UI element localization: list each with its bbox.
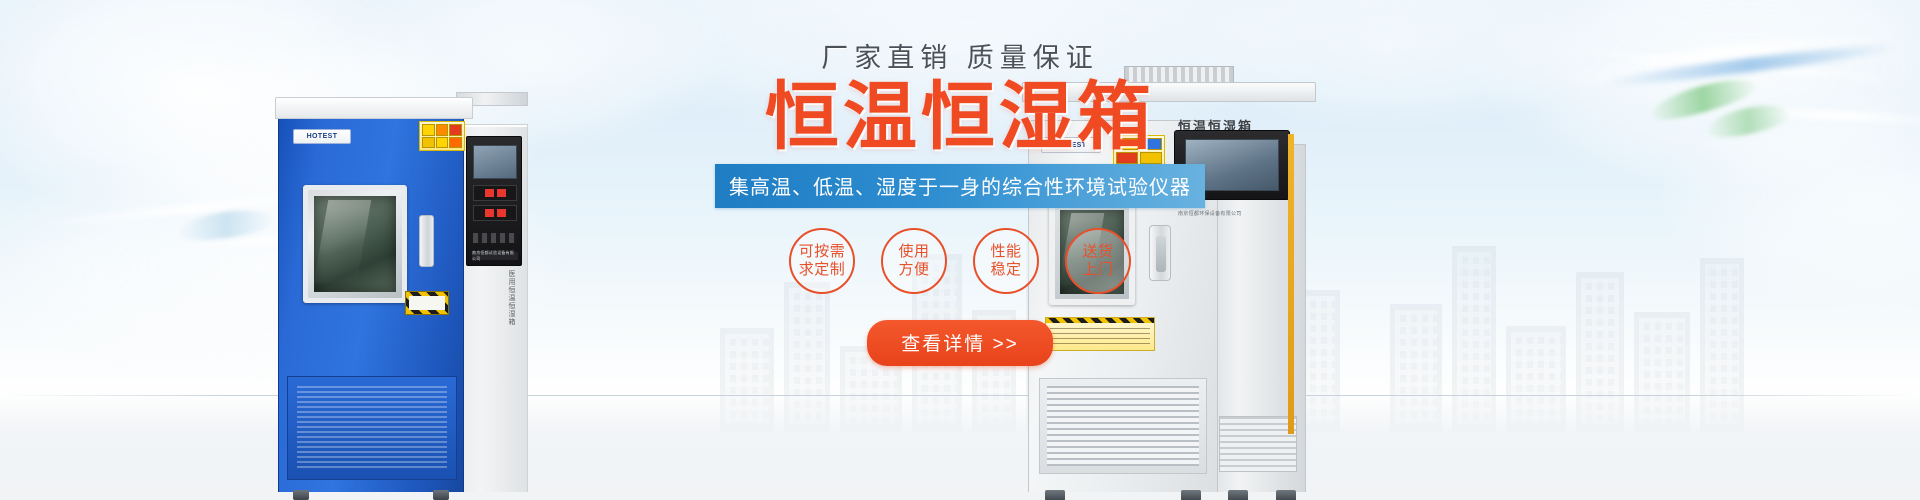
badge-line-1: 性能 — [990, 243, 1021, 261]
feature-badge-delivery[interactable]: 送货 上门 — [1065, 228, 1131, 294]
right-chamber-foot — [1181, 490, 1201, 500]
left-chamber-lower-door — [287, 376, 457, 480]
right-chamber-side-vent — [1219, 416, 1297, 472]
badge-line-1: 可按需 — [799, 243, 846, 261]
banner-subtitle-bar: 集高温、低温、湿度于一身的综合性环境试验仪器 — [715, 164, 1205, 208]
badge-line-2: 求定制 — [799, 261, 846, 279]
badge-line-2: 方便 — [898, 261, 929, 279]
feature-badge-custom[interactable]: 可按需 求定制 — [789, 228, 855, 294]
left-chamber-button-row — [473, 233, 517, 243]
badge-line-1: 送货 — [1082, 243, 1113, 261]
banner-content: 厂家直销 质量保证 恒温恒湿箱 集高温、低温、湿度于一身的综合性环境试验仪器 可… — [700, 44, 1220, 366]
left-chamber-front-label: 医用恒温恒湿箱 — [506, 270, 516, 326]
left-chamber-glass — [314, 196, 396, 292]
right-chamber-foot — [1045, 490, 1065, 500]
left-chamber-foot — [293, 490, 309, 500]
glass-glare — [313, 200, 370, 283]
right-chamber-front-grille — [1039, 378, 1207, 474]
left-chamber-touchscreen — [473, 145, 517, 179]
left-chamber-lower-vent — [297, 386, 447, 470]
left-chamber-viewport — [303, 185, 407, 303]
badge-line-2: 上门 — [1082, 261, 1113, 279]
promo-banner: HOTEST — [0, 0, 1920, 500]
badge-line-2: 稳定 — [990, 261, 1021, 279]
banner-tagline: 厂家直销 质量保证 — [700, 44, 1220, 74]
badge-line-1: 使用 — [898, 243, 929, 261]
left-chamber-top-cap — [275, 97, 473, 119]
feature-badge-list: 可按需 求定制 使用 方便 性能 稳定 送货 上门 — [700, 228, 1220, 294]
left-chamber-body: HOTEST — [278, 110, 464, 492]
right-chamber-foot — [1276, 490, 1296, 500]
right-chamber-accent-stripe — [1288, 134, 1294, 434]
left-chamber-digital-readout-2 — [473, 205, 517, 221]
feature-badge-easy-to-use[interactable]: 使用 方便 — [881, 228, 947, 294]
banner-headline: 恒温恒湿箱 — [700, 78, 1220, 156]
left-chamber-foot — [433, 490, 449, 500]
view-details-button[interactable]: 查看详情 >> — [867, 320, 1052, 366]
left-chamber-warning-sticker — [419, 121, 465, 151]
left-chamber-panel-caption: 南京恒都试验设备有限公司 — [472, 252, 518, 260]
left-chamber-hazard-plate — [405, 291, 449, 315]
cta-container: 查看详情 >> — [700, 320, 1220, 366]
feature-badge-stable-performance[interactable]: 性能 稳定 — [973, 228, 1039, 294]
left-chamber-brand-logo: HOTEST — [293, 129, 351, 144]
left-chamber-control-panel: 南京恒都试验设备有限公司 — [466, 136, 522, 266]
right-chamber-foot — [1228, 490, 1248, 500]
product-image-left-chamber: HOTEST — [278, 92, 528, 492]
left-chamber-digital-readout — [473, 185, 517, 201]
left-chamber-door-handle — [419, 215, 434, 267]
